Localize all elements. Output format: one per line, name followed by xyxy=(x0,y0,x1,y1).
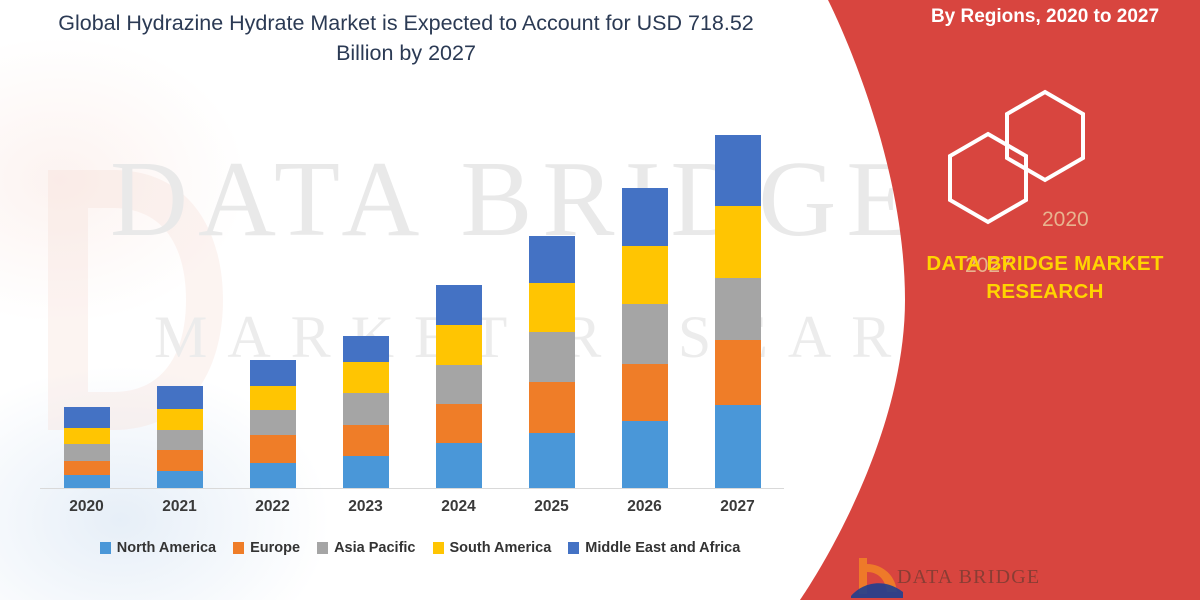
bar-segment[interactable] xyxy=(529,236,575,283)
bar-column xyxy=(599,110,691,488)
bar-segment[interactable] xyxy=(343,393,389,425)
hexagon-2027-outline xyxy=(950,134,1026,222)
bar-segment[interactable] xyxy=(64,475,110,488)
x-axis-label: 2020 xyxy=(41,498,133,516)
stacked-bar[interactable] xyxy=(622,188,668,488)
legend-swatch-icon xyxy=(317,542,328,554)
bar-column xyxy=(134,110,226,488)
bar-column xyxy=(692,110,784,488)
legend-swatch-icon xyxy=(100,542,111,554)
bar-segment[interactable] xyxy=(529,332,575,382)
bar-segment[interactable] xyxy=(250,386,296,410)
stacked-bar[interactable] xyxy=(64,407,110,488)
x-axis-label: 2026 xyxy=(599,498,691,516)
bar-segment[interactable] xyxy=(343,362,389,393)
hexagon-2020-outline xyxy=(1007,92,1083,180)
bar-segment[interactable] xyxy=(157,386,203,409)
bar-column xyxy=(227,110,319,488)
bar-segment[interactable] xyxy=(343,456,389,488)
bar-segment[interactable] xyxy=(157,409,203,430)
bar-segment[interactable] xyxy=(715,206,761,278)
x-axis-label: 2025 xyxy=(506,498,598,516)
legend-item[interactable]: North America xyxy=(100,540,216,556)
legend-item[interactable]: Asia Pacific xyxy=(317,540,415,556)
bar-segment[interactable] xyxy=(343,425,389,456)
bar-segment[interactable] xyxy=(157,471,203,488)
stacked-bar[interactable] xyxy=(715,135,761,488)
stacked-bar[interactable] xyxy=(250,360,296,488)
bar-segment[interactable] xyxy=(343,336,389,362)
bar-segment[interactable] xyxy=(529,382,575,433)
legend-item[interactable]: Middle East and Africa xyxy=(568,540,740,556)
bar-segment[interactable] xyxy=(529,283,575,332)
stacked-bar[interactable] xyxy=(529,236,575,488)
bar-segment[interactable] xyxy=(64,461,110,475)
x-axis-tick-labels: 20202021202220232024202520262027 xyxy=(40,498,784,516)
bar-segment[interactable] xyxy=(622,364,668,421)
bar-segment[interactable] xyxy=(250,463,296,488)
legend-item[interactable]: South America xyxy=(433,540,552,556)
chart-legend: North AmericaEuropeAsia PacificSouth Ame… xyxy=(40,540,800,556)
legend-label: South America xyxy=(450,540,552,556)
legend-label: Asia Pacific xyxy=(334,540,415,556)
bar-segment[interactable] xyxy=(250,410,296,435)
bar-segment[interactable] xyxy=(250,360,296,386)
bar-column xyxy=(506,110,598,488)
bar-segment[interactable] xyxy=(157,450,203,471)
legend-swatch-icon xyxy=(433,542,444,554)
footer-logo-text: DATA BRIDGE xyxy=(897,566,1040,589)
bar-segment[interactable] xyxy=(715,405,761,488)
x-axis-label: 2023 xyxy=(320,498,412,516)
legend-label: North America xyxy=(117,540,216,556)
legend-label: Middle East and Africa xyxy=(585,540,740,556)
hexagon-shapes-icon xyxy=(915,86,1185,226)
legend-swatch-icon xyxy=(568,542,579,554)
bar-segment[interactable] xyxy=(622,304,668,364)
infographic-canvas: DATA BRIDGE MARKET RESEARCH Global Hydra… xyxy=(0,0,1200,600)
x-axis-label: 2022 xyxy=(227,498,319,516)
x-axis-label: 2024 xyxy=(413,498,505,516)
legend-swatch-icon xyxy=(233,542,244,554)
stacked-bar[interactable] xyxy=(343,336,389,488)
hexagon-label-2020: 2020 xyxy=(1042,208,1089,232)
bar-segment[interactable] xyxy=(622,421,668,488)
bar-segment[interactable] xyxy=(436,443,482,488)
legend-item[interactable]: Europe xyxy=(233,540,300,556)
brand-line-1: DATA BRIDGE MARKET xyxy=(926,252,1163,275)
bar-column xyxy=(413,110,505,488)
brand-name: DATA BRIDGE MARKET RESEARCH xyxy=(895,250,1195,306)
stacked-bar-series-group xyxy=(40,110,784,488)
bar-segment[interactable] xyxy=(64,407,110,428)
bar-segment[interactable] xyxy=(715,340,761,405)
hexagon-group: 2020 2027 xyxy=(915,86,1185,226)
bar-segment[interactable] xyxy=(715,278,761,340)
bar-segment[interactable] xyxy=(157,430,203,450)
chart-title: Global Hydrazine Hydrate Market is Expec… xyxy=(36,8,776,68)
x-axis-line xyxy=(40,488,784,489)
right-panel-content: By Regions, 2020 to 2027 2020 2027 DATA … xyxy=(905,0,1200,600)
bar-column xyxy=(320,110,412,488)
stacked-bar[interactable] xyxy=(436,285,482,488)
bar-segment[interactable] xyxy=(436,404,482,443)
bar-segment[interactable] xyxy=(529,433,575,488)
bar-segment[interactable] xyxy=(64,444,110,461)
bar-segment[interactable] xyxy=(622,246,668,304)
bar-segment[interactable] xyxy=(715,135,761,206)
bar-column xyxy=(41,110,133,488)
x-axis-label: 2027 xyxy=(692,498,784,516)
bar-segment[interactable] xyxy=(436,365,482,404)
x-axis-label: 2021 xyxy=(134,498,226,516)
brand-line-2: RESEARCH xyxy=(986,280,1103,303)
bar-segment[interactable] xyxy=(436,325,482,365)
bar-segment[interactable] xyxy=(436,285,482,325)
bar-segment[interactable] xyxy=(64,428,110,444)
stacked-bar[interactable] xyxy=(157,386,203,488)
bar-segment[interactable] xyxy=(622,188,668,246)
legend-label: Europe xyxy=(250,540,300,556)
bar-segment[interactable] xyxy=(250,435,296,463)
right-panel-heading: By Regions, 2020 to 2027 xyxy=(890,6,1200,28)
